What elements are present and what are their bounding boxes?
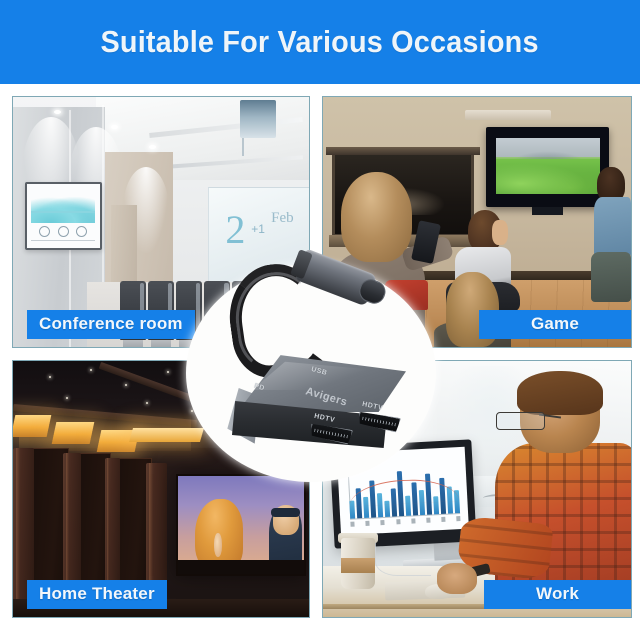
worker-hair xyxy=(517,371,603,415)
header-banner: Suitable For Various Occasions xyxy=(0,0,640,84)
foreground-player-sleeve xyxy=(385,280,428,310)
tile-conference-room: 2 +1 Feb xyxy=(12,96,310,348)
projector xyxy=(240,100,276,138)
home-theater-scene xyxy=(13,361,309,617)
tick xyxy=(456,516,460,521)
cove-light-strip xyxy=(129,428,204,442)
ceiling-spotlight xyxy=(111,125,118,129)
chart-baseline xyxy=(31,240,95,241)
coffee-cup-sleeve xyxy=(341,558,375,573)
tile-home-theater: Home Theater xyxy=(12,360,310,618)
tick xyxy=(396,519,400,524)
chair-highlight xyxy=(224,283,228,336)
tick xyxy=(441,517,445,522)
standing-player-legs xyxy=(591,252,631,302)
wall-sconce xyxy=(12,415,51,437)
tile-game: Game xyxy=(322,96,632,348)
crown-molding xyxy=(465,110,551,120)
tv-screen xyxy=(496,138,599,194)
television xyxy=(486,127,609,207)
standing-player-body xyxy=(594,197,631,257)
page-title: Suitable For Various Occasions xyxy=(101,24,539,60)
ceiling-spotlight xyxy=(54,110,61,114)
ceiling-star xyxy=(90,369,92,371)
display-metrics xyxy=(36,226,91,236)
whiteboard-numeral: 2 xyxy=(225,206,245,253)
tv-stand xyxy=(532,207,563,215)
work-scene xyxy=(323,361,631,617)
seated-player-face xyxy=(492,220,507,245)
movie-character-mask xyxy=(271,508,300,517)
badge-home-theater: Home Theater xyxy=(27,580,167,609)
column-highlight xyxy=(16,448,20,617)
wall-display xyxy=(25,182,102,250)
tick xyxy=(426,518,430,523)
wall-sconce xyxy=(52,422,95,444)
tick xyxy=(411,519,415,524)
chart-line xyxy=(31,211,95,213)
worker-hand xyxy=(437,563,477,594)
movie-character-face xyxy=(214,533,223,557)
game-terrain xyxy=(496,159,599,194)
chart-area-fill xyxy=(31,197,95,224)
projection-screen xyxy=(176,474,306,576)
metric-gauge xyxy=(76,226,87,237)
badge-work: Work xyxy=(484,580,631,609)
monitor-screen xyxy=(337,447,469,535)
metric-gauge xyxy=(39,226,50,237)
screen-letterbox xyxy=(178,560,304,574)
worker-glasses xyxy=(496,412,545,430)
chair-highlight xyxy=(253,283,257,336)
tick xyxy=(381,520,385,525)
whiteboard-text: Feb xyxy=(271,210,294,227)
fireplace-mantel xyxy=(326,147,480,155)
ceiling-star xyxy=(191,410,193,412)
metric-gauge xyxy=(58,226,69,237)
tick xyxy=(351,522,355,527)
badge-conference-room: Conference room xyxy=(27,310,195,339)
occasions-grid: 2 +1 Feb xyxy=(12,96,632,618)
tick xyxy=(366,521,370,526)
tile-work: Work xyxy=(322,360,632,618)
display-chart xyxy=(31,197,95,224)
product-marketing-image: Suitable For Various Occasions xyxy=(0,0,640,627)
monitor-cable xyxy=(375,540,430,576)
office-chair xyxy=(204,281,230,340)
office-chair xyxy=(232,281,258,340)
chair-highlight xyxy=(196,283,200,336)
whiteboard-subscript: +1 xyxy=(251,222,265,236)
badge-game: Game xyxy=(479,310,631,339)
ceiling-spotlight xyxy=(149,145,156,149)
foreground-player-head xyxy=(341,172,412,262)
